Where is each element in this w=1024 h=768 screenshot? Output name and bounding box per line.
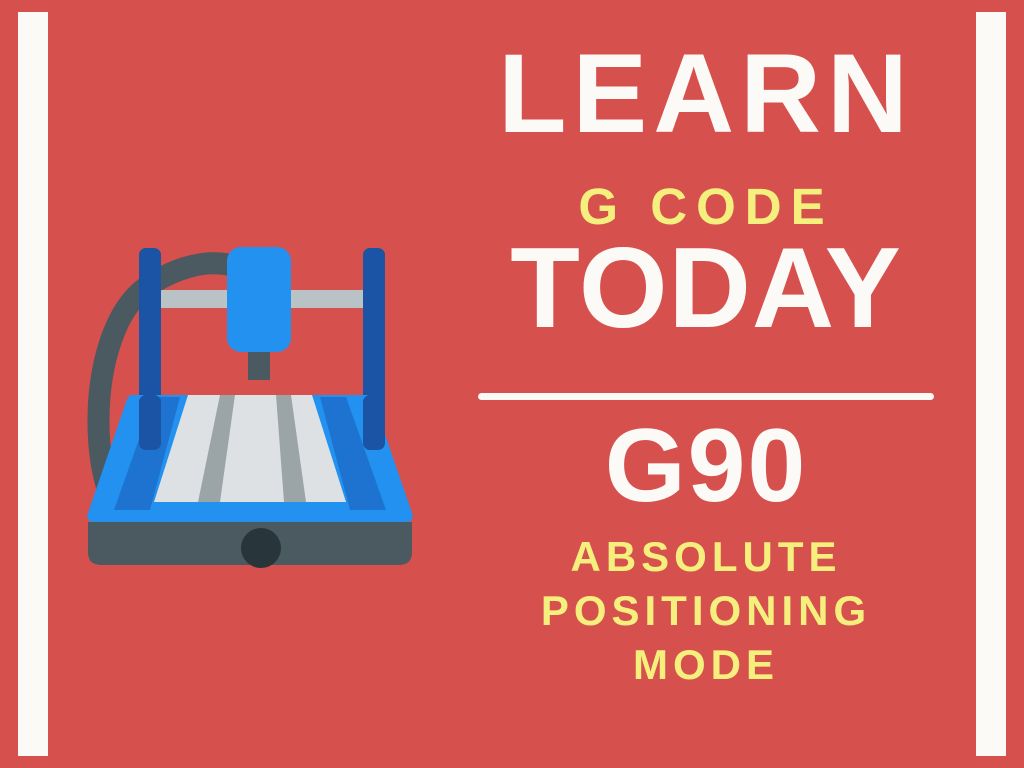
description-line-2: POSITIONING	[462, 584, 950, 638]
headline-today: TODAY	[462, 232, 950, 346]
control-knob-icon[interactable]	[241, 528, 281, 568]
left-vertical-rule	[18, 12, 48, 756]
3d-printer-icon	[80, 180, 450, 580]
description-line-3: MODE	[462, 638, 950, 692]
headline-column: LEARN G CODE TODAY G90 ABSOLUTE POSITION…	[462, 0, 950, 768]
right-post-foot	[363, 395, 385, 450]
headline-learn: LEARN	[462, 38, 950, 150]
right-vertical-rule	[976, 12, 1006, 756]
left-post-foot	[139, 395, 161, 450]
description-line-1: ABSOLUTE	[462, 530, 950, 584]
gcode-command: G90	[462, 414, 950, 518]
poster-canvas: LEARN G CODE TODAY G90 ABSOLUTE POSITION…	[0, 0, 1024, 768]
printer-illustration	[80, 180, 450, 580]
extruder-carriage	[227, 247, 291, 352]
horizontal-divider	[478, 393, 934, 400]
gcode-description: ABSOLUTE POSITIONING MODE	[462, 530, 950, 692]
